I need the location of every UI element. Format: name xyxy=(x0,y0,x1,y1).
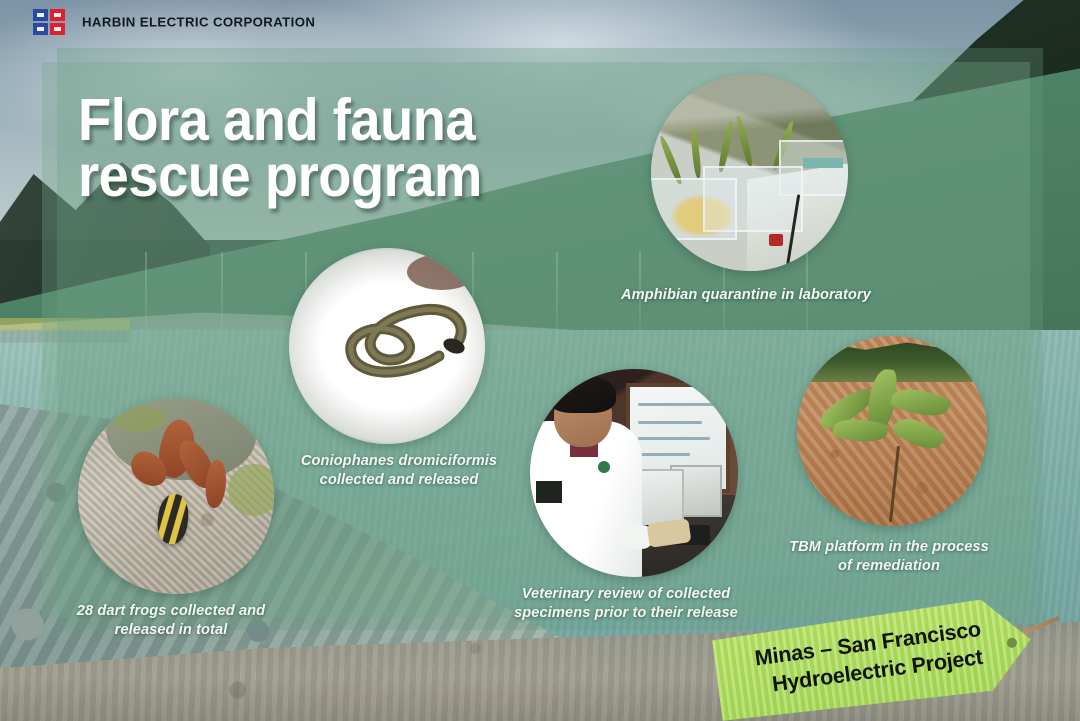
caption-veterinary-review: Veterinary review of collected specimens… xyxy=(490,585,762,624)
caption-line-1: Veterinary review of collected xyxy=(522,586,730,602)
caption-line-2: specimens prior to their release xyxy=(514,605,738,621)
photo-amphibian-quarantine xyxy=(651,74,848,271)
photo-tbm-platform-remediation xyxy=(797,336,987,526)
caption-line-2: of remediation xyxy=(838,558,940,574)
caption-line-2: collected and released xyxy=(320,472,479,488)
photo-dart-frog xyxy=(78,398,274,594)
caption-tbm-platform-remediation: TBM platform in the process of remediati… xyxy=(762,538,1016,577)
caption-coniophanes-snake: Coniophanes dromiciformis collected and … xyxy=(277,452,521,491)
caption-line-2: released in total xyxy=(115,622,228,638)
photo-coniophanes-snake xyxy=(289,248,485,444)
caption-dart-frogs: 28 dart frogs collected and released in … xyxy=(48,602,294,641)
caption-amphibian-quarantine: Amphibian quarantine in laboratory xyxy=(596,286,896,305)
header-bar: HARBIN ELECTRIC CORPORATION xyxy=(0,0,1080,44)
snake-shape-icon xyxy=(289,248,485,444)
page-title-line-1: Flora and fauna xyxy=(78,92,556,148)
caption-line-1: TBM platform in the process xyxy=(789,539,989,555)
caption-line-1: Coniophanes dromiciformis xyxy=(301,453,497,469)
page-title-line-2: rescue program xyxy=(78,148,556,204)
slide-canvas: HARBIN ELECTRIC CORPORATION Flora and fa… xyxy=(0,0,1080,721)
harbin-electric-logo-icon xyxy=(33,9,67,37)
photo-veterinary-review xyxy=(530,369,738,577)
caption-line-1: 28 dart frogs collected and xyxy=(77,603,265,619)
page-title: Flora and fauna rescue program xyxy=(78,92,556,204)
brand-name: HARBIN ELECTRIC CORPORATION xyxy=(82,15,315,30)
